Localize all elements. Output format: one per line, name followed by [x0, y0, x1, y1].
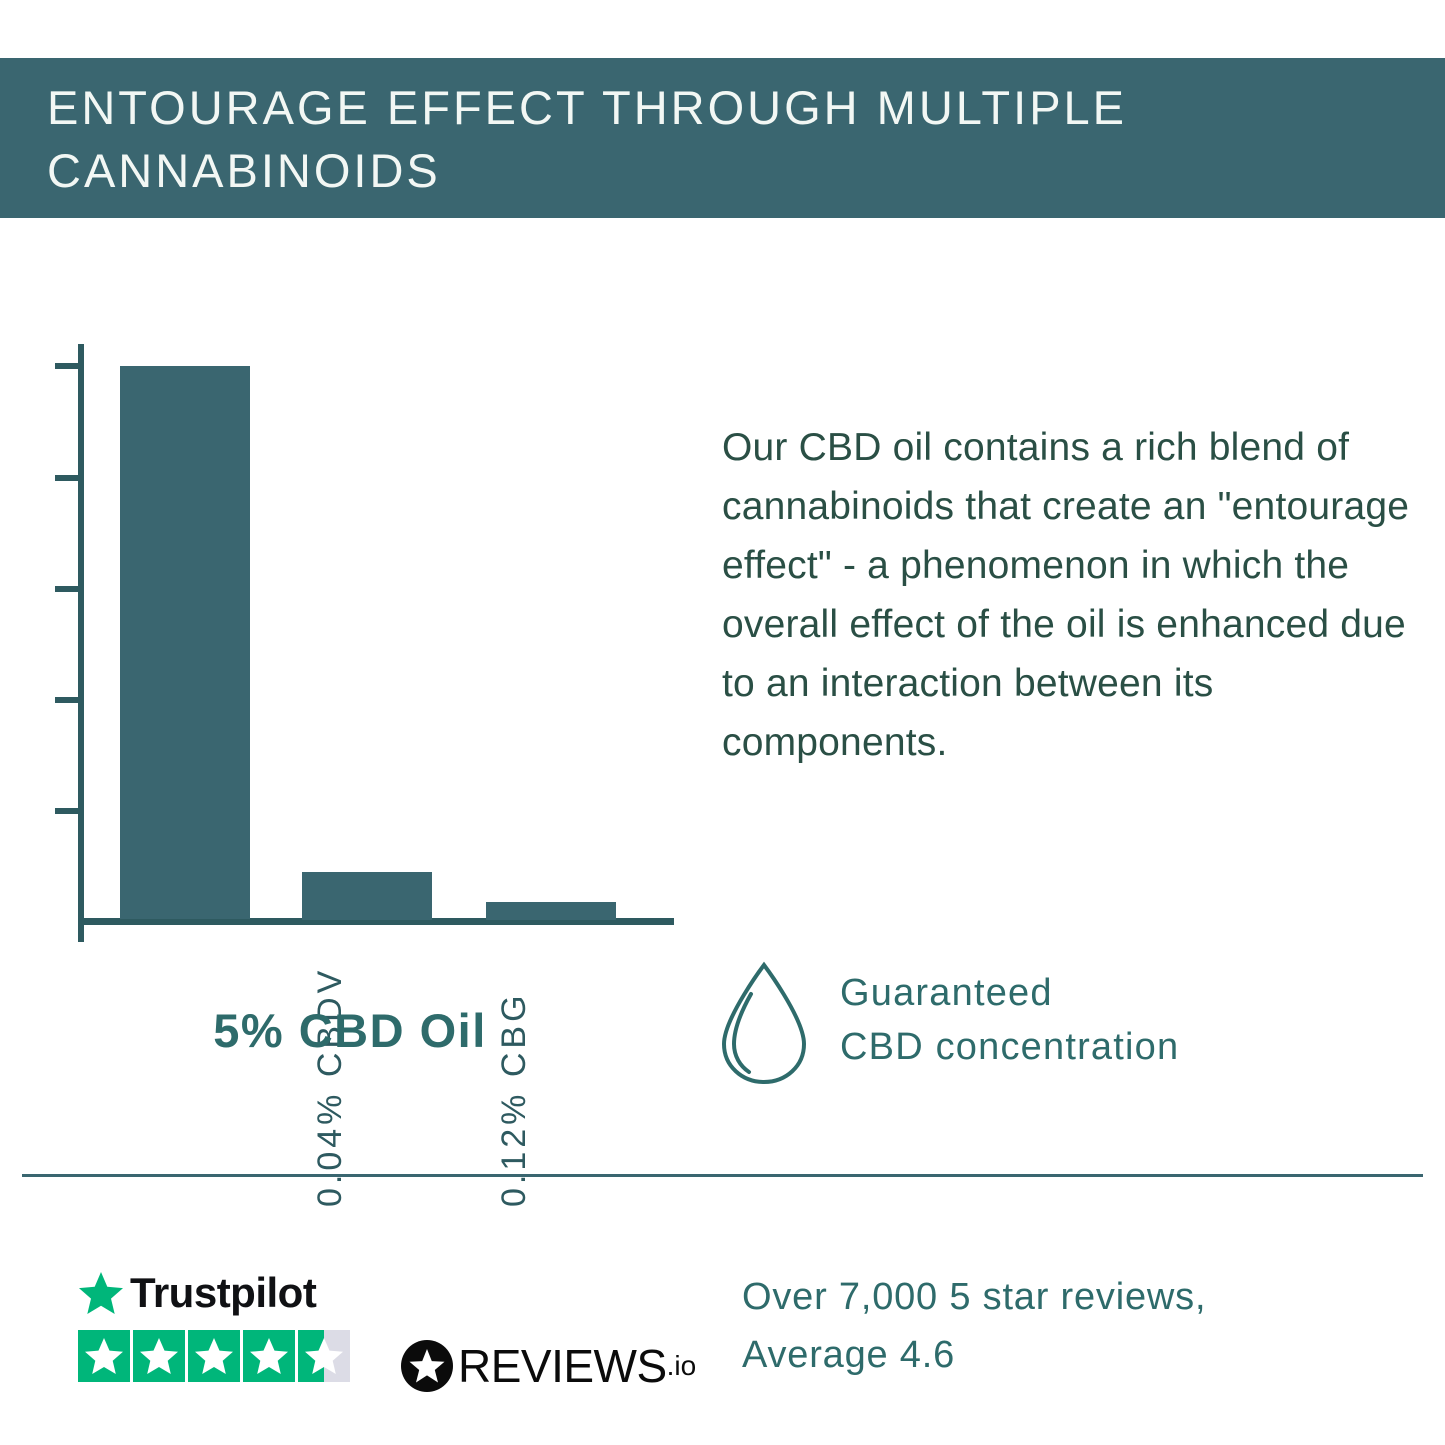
y-axis-tick	[55, 363, 84, 369]
y-axis-tick	[55, 808, 84, 814]
product-label: 5% CBD Oil	[0, 1003, 700, 1058]
star-icon-half	[298, 1330, 350, 1382]
reviewsio-logo: REVIEWS .io	[400, 1335, 696, 1397]
reviews-summary-text: Over 7,000 5 star reviews, Average 4.6	[742, 1268, 1402, 1384]
reviewsio-suffix-text: .io	[667, 1340, 697, 1392]
y-axis-tick	[55, 475, 84, 481]
guarantee-text: Guaranteed CBD concentration	[840, 966, 1400, 1074]
cannabinoid-bar-chart: 5.63% CBD 0.04% CBDV 0.12% CBG	[0, 330, 700, 950]
bar-cbdv	[302, 872, 432, 920]
trustpilot-star-rating	[78, 1330, 350, 1382]
star-badge-icon	[400, 1339, 454, 1393]
trustpilot-logo: Trustpilot	[78, 1268, 316, 1318]
header-band: ENTOURAGE EFFECT THROUGH MULTIPLE CANNAB…	[0, 58, 1445, 218]
y-axis-line	[78, 344, 84, 942]
trustpilot-wordmark-text: Trustpilot	[130, 1270, 316, 1316]
star-icon	[133, 1330, 185, 1382]
reviewsio-wordmark-text: REVIEWS	[458, 1340, 667, 1392]
droplet-icon	[718, 960, 810, 1086]
bar-cbd	[120, 366, 250, 919]
bar-cbg	[486, 902, 616, 920]
page-title: ENTOURAGE EFFECT THROUGH MULTIPLE CANNAB…	[47, 76, 1417, 202]
star-icon	[78, 1270, 124, 1316]
star-icon	[78, 1330, 130, 1382]
y-axis-tick	[55, 586, 84, 592]
y-axis-tick	[55, 697, 84, 703]
star-icon	[188, 1330, 240, 1382]
body-paragraph: Our CBD oil contains a rich blend of can…	[722, 418, 1412, 772]
section-divider	[22, 1174, 1423, 1177]
guarantee-row: Guaranteed CBD concentration	[718, 960, 1398, 1090]
star-icon	[243, 1330, 295, 1382]
trustpilot-rating: Trustpilot	[78, 1268, 348, 1393]
